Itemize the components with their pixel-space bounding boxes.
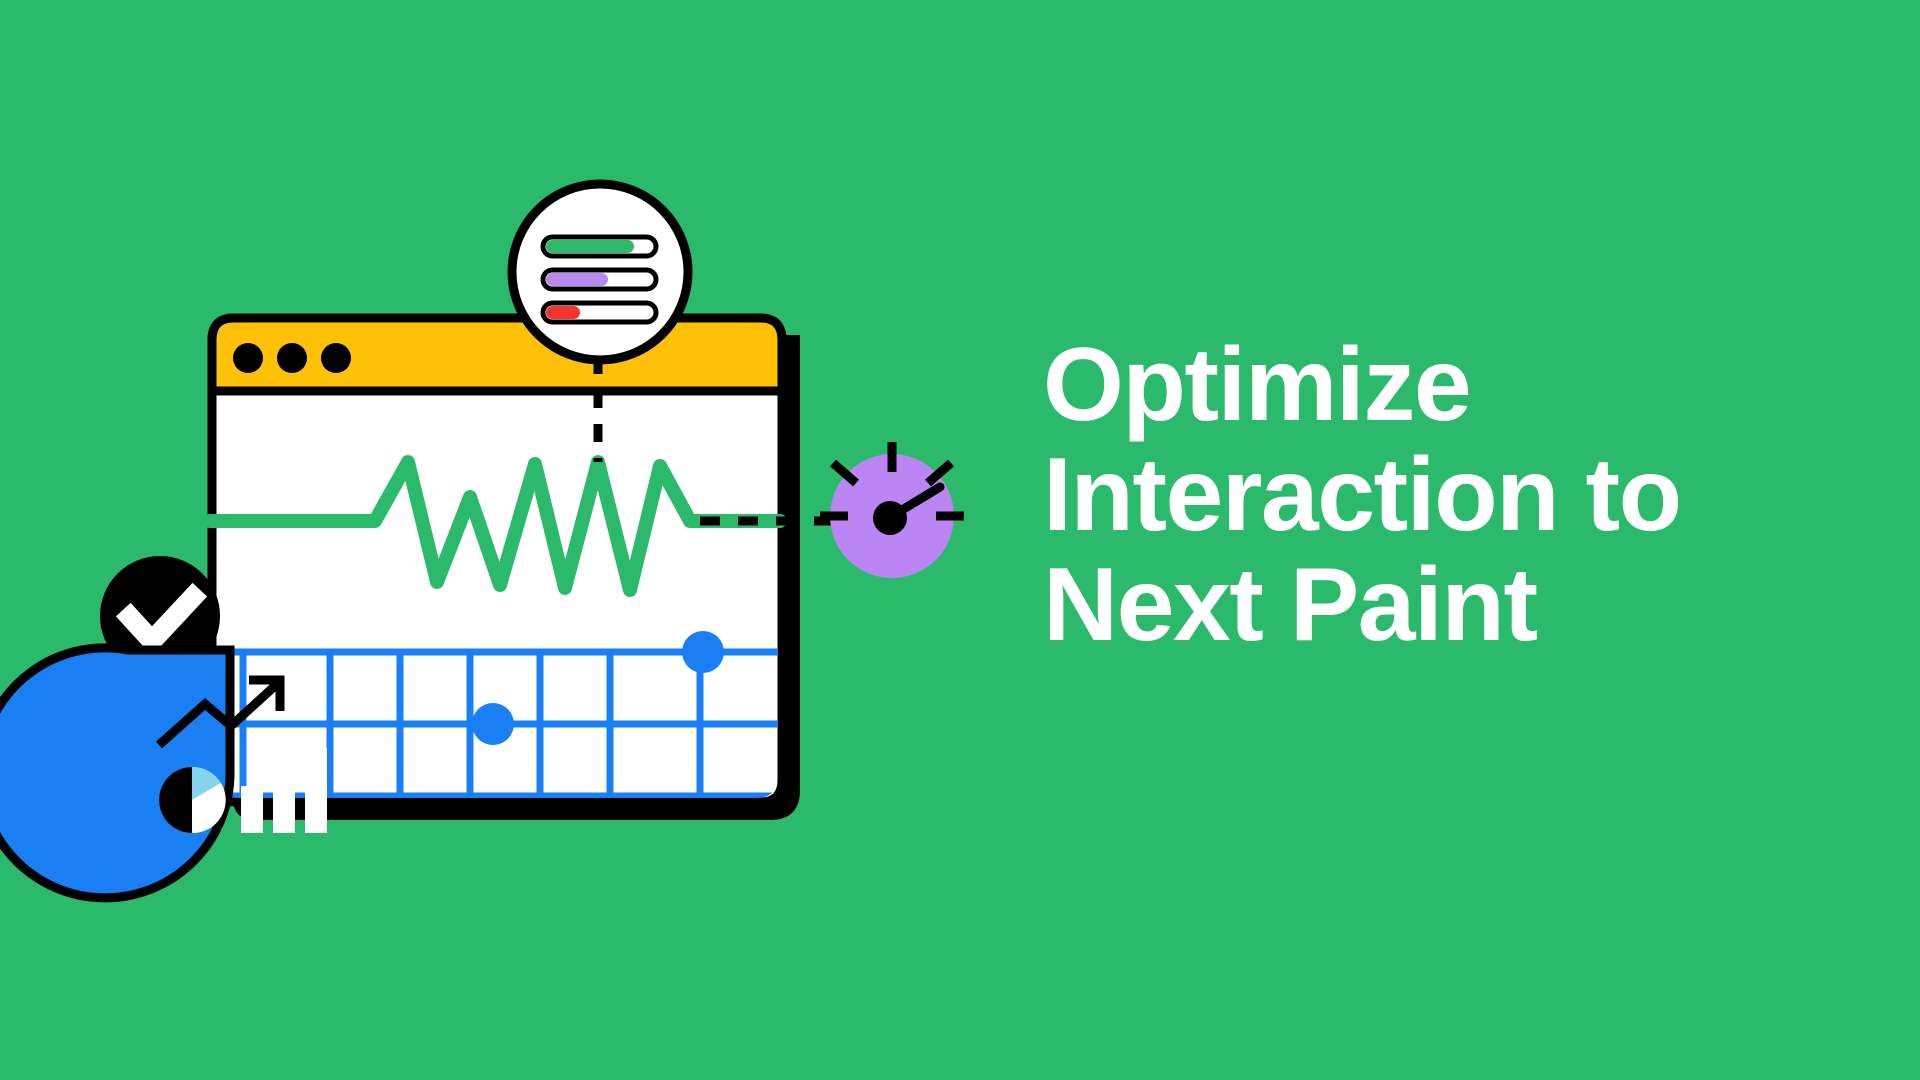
data-point-2[interactable] <box>682 631 724 673</box>
window-dot-3[interactable] <box>321 343 351 373</box>
gauge-hub <box>873 501 907 535</box>
bar-chart-icon-bar-1 <box>241 786 263 833</box>
red-progress-bar-fill <box>546 306 580 319</box>
bar-chart-icon-bar-2 <box>273 768 295 833</box>
page-title: Optimize Interaction to Next Paint <box>1043 330 1843 661</box>
poster-canvas: Optimize Interaction to Next Paint <box>0 0 1920 1080</box>
purple-progress-bar-fill <box>546 273 608 286</box>
bar-chart-icon-bar-3 <box>305 748 327 833</box>
window-dot-2[interactable] <box>277 343 307 373</box>
gauge-badge[interactable] <box>820 442 964 578</box>
window-dot-1[interactable] <box>233 343 263 373</box>
pie-chart-icon <box>159 767 226 833</box>
analytics-badge[interactable] <box>0 648 327 898</box>
metrics-badge[interactable] <box>512 184 688 360</box>
data-point-1[interactable] <box>472 703 514 745</box>
green-progress-bar-fill <box>546 240 634 253</box>
